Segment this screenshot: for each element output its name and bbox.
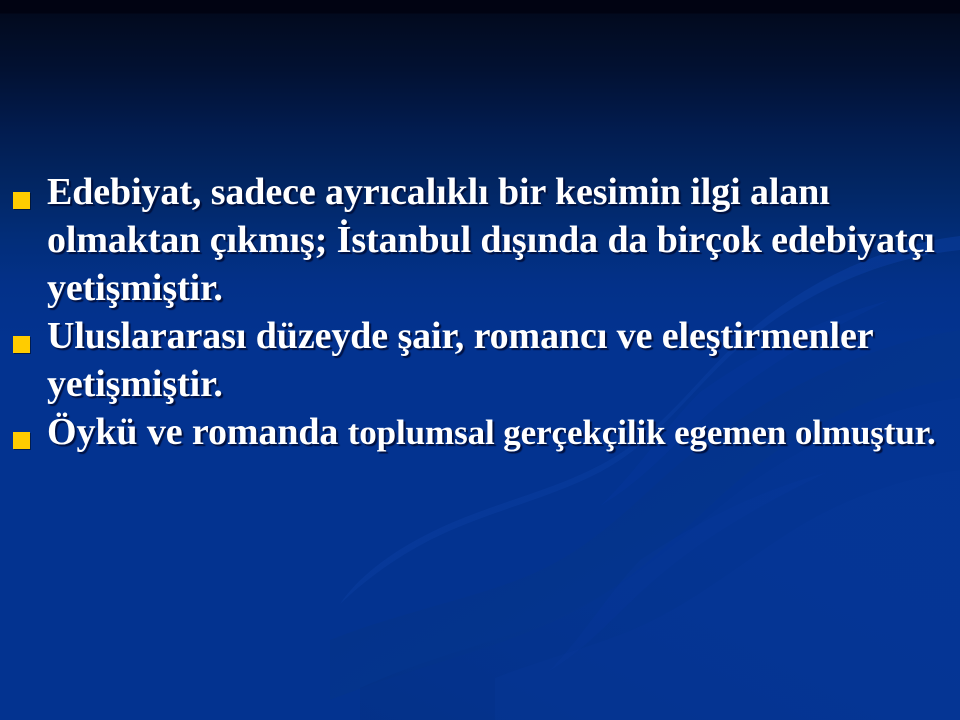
bullet-item-text: Edebiyat, sadece ayrıcalıklı bir kesimin… xyxy=(47,168,937,312)
square-bullet-icon xyxy=(13,336,30,353)
square-bullet-icon xyxy=(13,192,30,209)
bullet-item-text-rest: toplumsal gerçekçilik egemen olmuştur. xyxy=(348,413,936,452)
presentation-slide: Edebiyat, sadece ayrıcalıklı bir kesimin… xyxy=(0,0,960,720)
bullet-item-text: Uluslararası düzeyde şair, romancı ve el… xyxy=(47,312,937,408)
bullet-list-item: Öykü ve romanda toplumsal gerçekçilik eg… xyxy=(8,408,952,457)
slide-body-content: Edebiyat, sadece ayrıcalıklı bir kesimin… xyxy=(8,168,952,463)
bullet-list-item: Uluslararası düzeyde şair, romancı ve el… xyxy=(8,312,952,408)
bullet-item-text: Öykü ve romanda toplumsal gerçekçilik eg… xyxy=(47,408,937,457)
bullet-list-item: Edebiyat, sadece ayrıcalıklı bir kesimin… xyxy=(8,168,952,312)
square-bullet-icon xyxy=(13,432,30,449)
bullet-item-text-lead: Öykü ve romanda xyxy=(47,411,348,453)
